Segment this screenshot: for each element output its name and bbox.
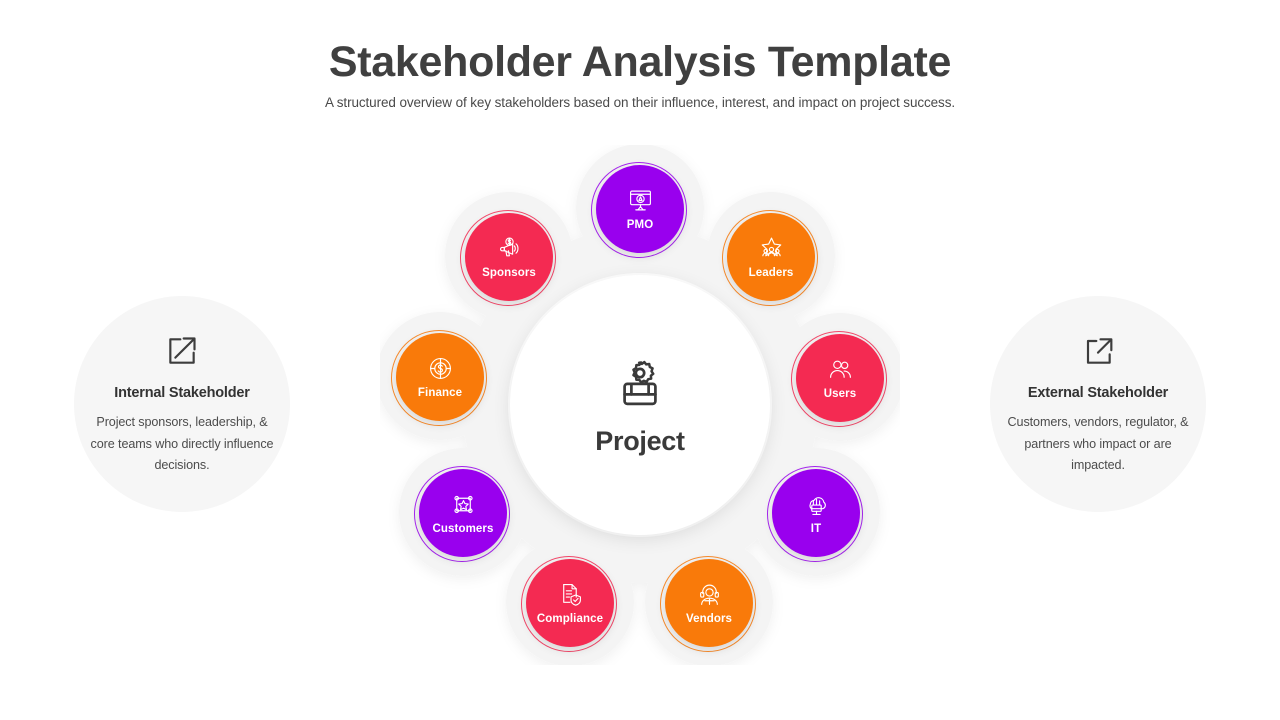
internal-stakeholder-description: Project sponsors, leadership, & core tea… bbox=[90, 412, 274, 477]
dollar-circle-icon bbox=[428, 356, 453, 381]
stakeholder-node-pmo[interactable]: PMO bbox=[596, 165, 684, 253]
node-label: Finance bbox=[418, 387, 462, 399]
node-disc[interactable]: Finance bbox=[396, 333, 484, 421]
internal-stakeholder-panel[interactable]: Internal Stakeholder Project sponsors, l… bbox=[74, 296, 290, 512]
node-disc[interactable]: Users bbox=[796, 334, 884, 422]
node-label: Sponsors bbox=[482, 267, 536, 279]
stakeholder-node-leaders[interactable]: Leaders bbox=[727, 213, 815, 301]
cloud-computer-icon bbox=[804, 492, 829, 517]
node-disc[interactable]: Customers bbox=[419, 469, 507, 557]
stakeholder-node-finance[interactable]: Finance bbox=[396, 333, 484, 421]
node-label: Customers bbox=[433, 523, 494, 535]
stakeholder-node-sponsors[interactable]: Sponsors bbox=[465, 213, 553, 301]
page-header: Stakeholder Analysis Template A structur… bbox=[0, 0, 1280, 110]
stakeholder-node-it[interactable]: IT bbox=[772, 469, 860, 557]
page-title: Stakeholder Analysis Template bbox=[0, 38, 1280, 86]
page-subtitle: A structured overview of key stakeholder… bbox=[0, 95, 1280, 110]
node-disc[interactable]: IT bbox=[772, 469, 860, 557]
star-team-icon bbox=[759, 236, 784, 261]
internal-stakeholder-title: Internal Stakeholder bbox=[114, 385, 249, 401]
project-gear-blueprint-icon bbox=[611, 354, 669, 412]
arrow-out-of-box-icon bbox=[1078, 331, 1118, 371]
node-label: Users bbox=[824, 388, 856, 400]
stakeholder-wheel: Project PMOLeadersUsersITVendorsComplian… bbox=[380, 145, 900, 665]
node-disc[interactable]: Vendors bbox=[665, 559, 753, 647]
project-center-hub[interactable]: Project bbox=[510, 275, 770, 535]
node-label: Vendors bbox=[686, 613, 732, 625]
node-label: PMO bbox=[627, 219, 654, 231]
node-label: Leaders bbox=[749, 267, 794, 279]
document-shield-icon bbox=[558, 582, 583, 607]
stakeholder-node-vendors[interactable]: Vendors bbox=[665, 559, 753, 647]
arrow-into-box-icon bbox=[162, 331, 202, 371]
star-feedback-icon bbox=[451, 492, 476, 517]
node-disc[interactable]: Compliance bbox=[526, 559, 614, 647]
node-label: Compliance bbox=[537, 613, 603, 625]
external-stakeholder-panel[interactable]: External Stakeholder Customers, vendors,… bbox=[990, 296, 1206, 512]
megaphone-dollar-icon bbox=[497, 236, 522, 261]
people-group-icon bbox=[828, 357, 853, 382]
node-label: IT bbox=[811, 523, 821, 535]
node-disc[interactable]: Leaders bbox=[727, 213, 815, 301]
node-disc[interactable]: PMO bbox=[596, 165, 684, 253]
stakeholder-node-compliance[interactable]: Compliance bbox=[526, 559, 614, 647]
stakeholder-node-users[interactable]: Users bbox=[796, 334, 884, 422]
stakeholder-node-customers[interactable]: Customers bbox=[419, 469, 507, 557]
headset-agent-icon bbox=[697, 582, 722, 607]
external-stakeholder-title: External Stakeholder bbox=[1028, 385, 1168, 401]
project-center-label: Project bbox=[595, 426, 684, 457]
presentation-board-icon bbox=[628, 188, 653, 213]
node-disc[interactable]: Sponsors bbox=[465, 213, 553, 301]
external-stakeholder-description: Customers, vendors, regulator, & partner… bbox=[1006, 412, 1190, 477]
